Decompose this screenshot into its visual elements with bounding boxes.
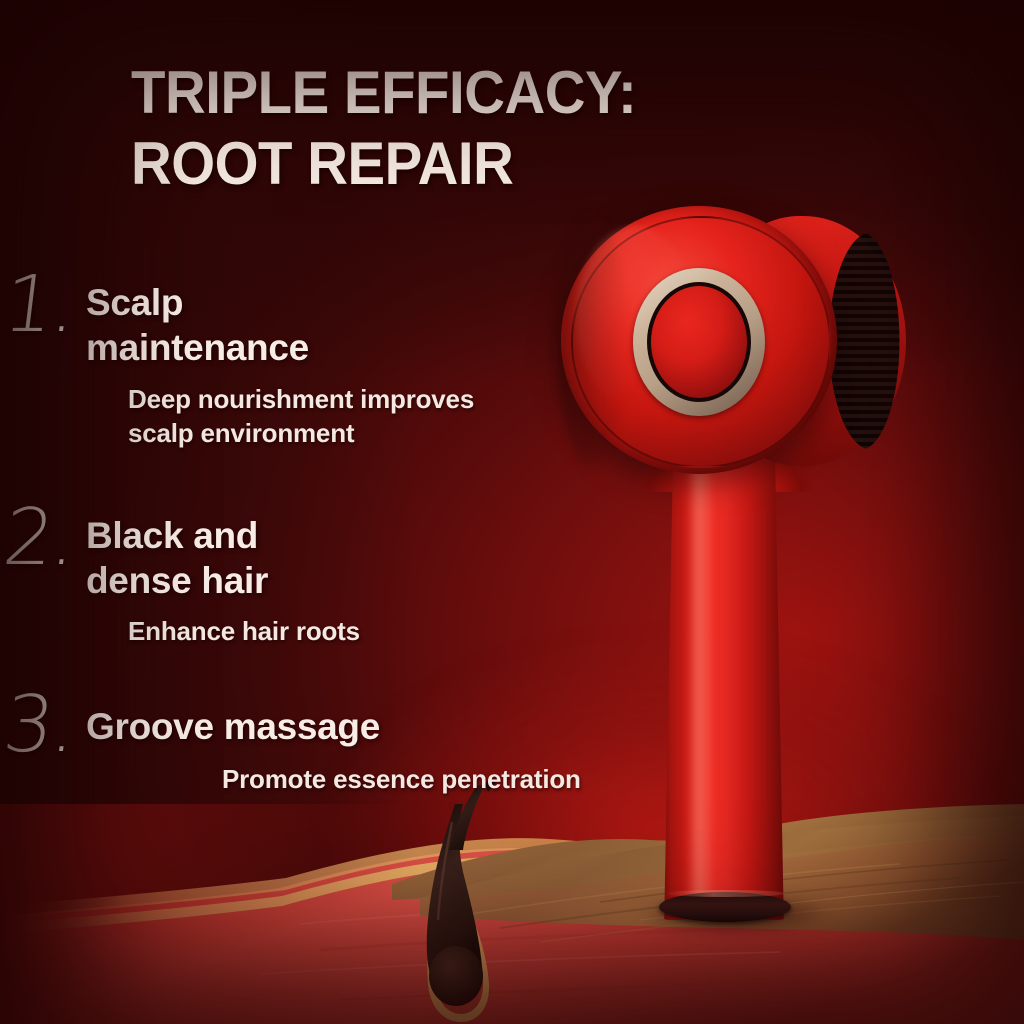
- feature-2-title: Black and dense hair: [86, 505, 268, 603]
- feature-2-title-line-1: Black and: [86, 513, 268, 558]
- feature-3-description: Promote essence penetration: [222, 763, 560, 797]
- feature-1-desc-line-2: scalp environment: [128, 417, 560, 451]
- massager-head[interactable]: [561, 206, 911, 474]
- feature-1-title: Scalp maintenance: [86, 272, 309, 370]
- feature-3-title: Groove massage: [86, 692, 380, 749]
- feature-2-heading: 2. Black and dense hair: [0, 505, 560, 603]
- feature-3-title-line-1: Groove massage: [86, 704, 380, 749]
- feature-1-number: 1.: [0, 272, 94, 339]
- hair-bulb: [429, 946, 483, 1006]
- headline-line-1: TRIPLE EFFICACY:: [131, 58, 714, 129]
- feature-3-desc-line-1: Promote essence penetration: [222, 763, 560, 797]
- feature-1-title-line-2: maintenance: [86, 325, 309, 370]
- poster-root: TRIPLE EFFICACY: ROOT REPAIR 1. Scalp ma…: [0, 0, 1024, 1024]
- feature-1-heading: 1. Scalp maintenance: [0, 272, 560, 370]
- feature-3-heading: 3. Groove massage: [0, 692, 560, 759]
- feature-1-title-line-1: Scalp: [86, 280, 309, 325]
- feature-2-title-line-2: dense hair: [86, 558, 268, 603]
- device-handle[interactable]: [659, 440, 789, 920]
- feature-2-number: 2.: [0, 505, 94, 572]
- feature-2-description: Enhance hair roots: [128, 615, 560, 649]
- handle-sheen: [687, 446, 713, 916]
- feature-item-3: 3. Groove massage Promote essence penetr…: [0, 692, 560, 797]
- scalp-massager-device[interactable]: [555, 200, 925, 960]
- feature-1-desc-line-1: Deep nourishment improves: [128, 383, 560, 417]
- feature-item-2: 2. Black and dense hair Enhance hair roo…: [0, 505, 560, 649]
- head-left-shadow: [557, 214, 627, 466]
- feature-item-1: 1. Scalp maintenance Deep nourishment im…: [0, 272, 560, 451]
- device-base-highlight: [665, 890, 785, 897]
- ring-center: [651, 286, 747, 398]
- feature-1-description: Deep nourishment improves scalp environm…: [128, 383, 560, 451]
- feature-3-number: 3.: [0, 692, 94, 759]
- headline-line-2: ROOT REPAIR: [131, 129, 714, 200]
- page-title: TRIPLE EFFICACY: ROOT REPAIR: [131, 58, 714, 200]
- feature-2-desc-line-1: Enhance hair roots: [128, 615, 560, 649]
